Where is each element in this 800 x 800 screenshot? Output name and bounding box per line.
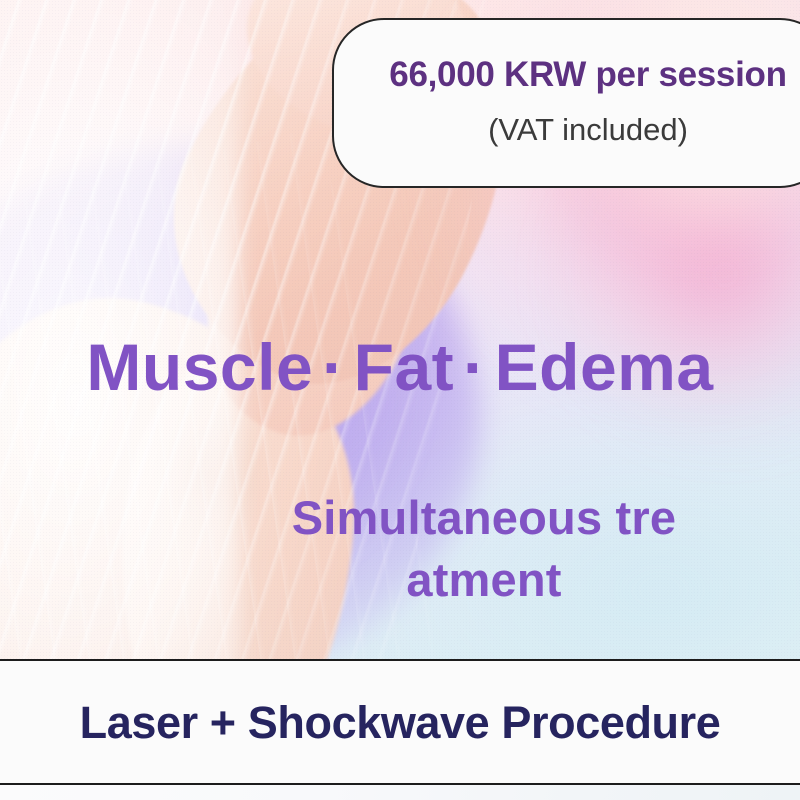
bottom-banner: Laser + Shockwave Procedure <box>0 659 800 785</box>
headline-part-edema: Edema <box>495 330 714 404</box>
price-per-session-label: 66,000 KRW per session <box>385 57 786 92</box>
headline-part-fat: Fat <box>354 330 455 404</box>
promo-poster: 66,000 KRW per session (VAT included) Mu… <box>0 0 800 800</box>
subtitle: Simultaneous treatment <box>288 487 680 611</box>
price-card: 66,000 KRW per session (VAT included) <box>332 18 800 188</box>
bottom-strip <box>0 785 800 800</box>
headline-separator-1: · <box>313 330 353 404</box>
headline-part-muscle: Muscle <box>86 330 313 404</box>
vat-included-label: (VAT included) <box>484 114 688 145</box>
headline-separator-2: · <box>454 330 494 404</box>
page-title: Muscle·Fat·Edema <box>0 334 800 400</box>
bottom-banner-label: Laser + Shockwave Procedure <box>80 700 721 745</box>
